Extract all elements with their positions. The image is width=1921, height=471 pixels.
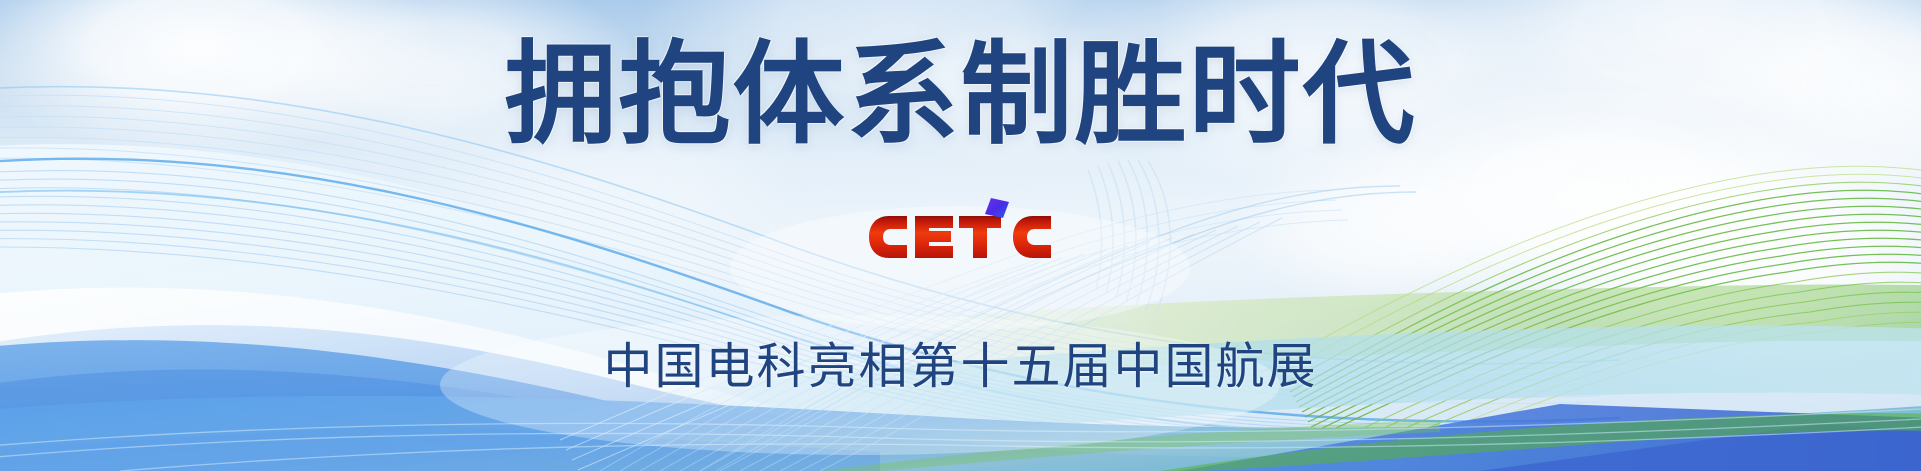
cetc-logo-icon (867, 196, 1055, 268)
banner-subtitle: 中国电科亮相第十五届中国航展 (0, 340, 1921, 394)
banner-headline: 拥抱体系制胜时代 (0, 36, 1921, 155)
banner-content: 拥抱体系制胜时代 (0, 0, 1921, 471)
cetc-letter-e (915, 216, 953, 258)
cetc-diamond-accent (985, 198, 1009, 218)
event-banner: 拥抱体系制胜时代 (0, 0, 1921, 471)
cetc-letter-c1 (869, 216, 907, 258)
cetc-letter-c2 (1013, 216, 1051, 258)
cetc-letter-t (959, 216, 1001, 258)
logo-container: CETC (0, 196, 1921, 268)
cetc-logo: CETC (867, 196, 1055, 268)
